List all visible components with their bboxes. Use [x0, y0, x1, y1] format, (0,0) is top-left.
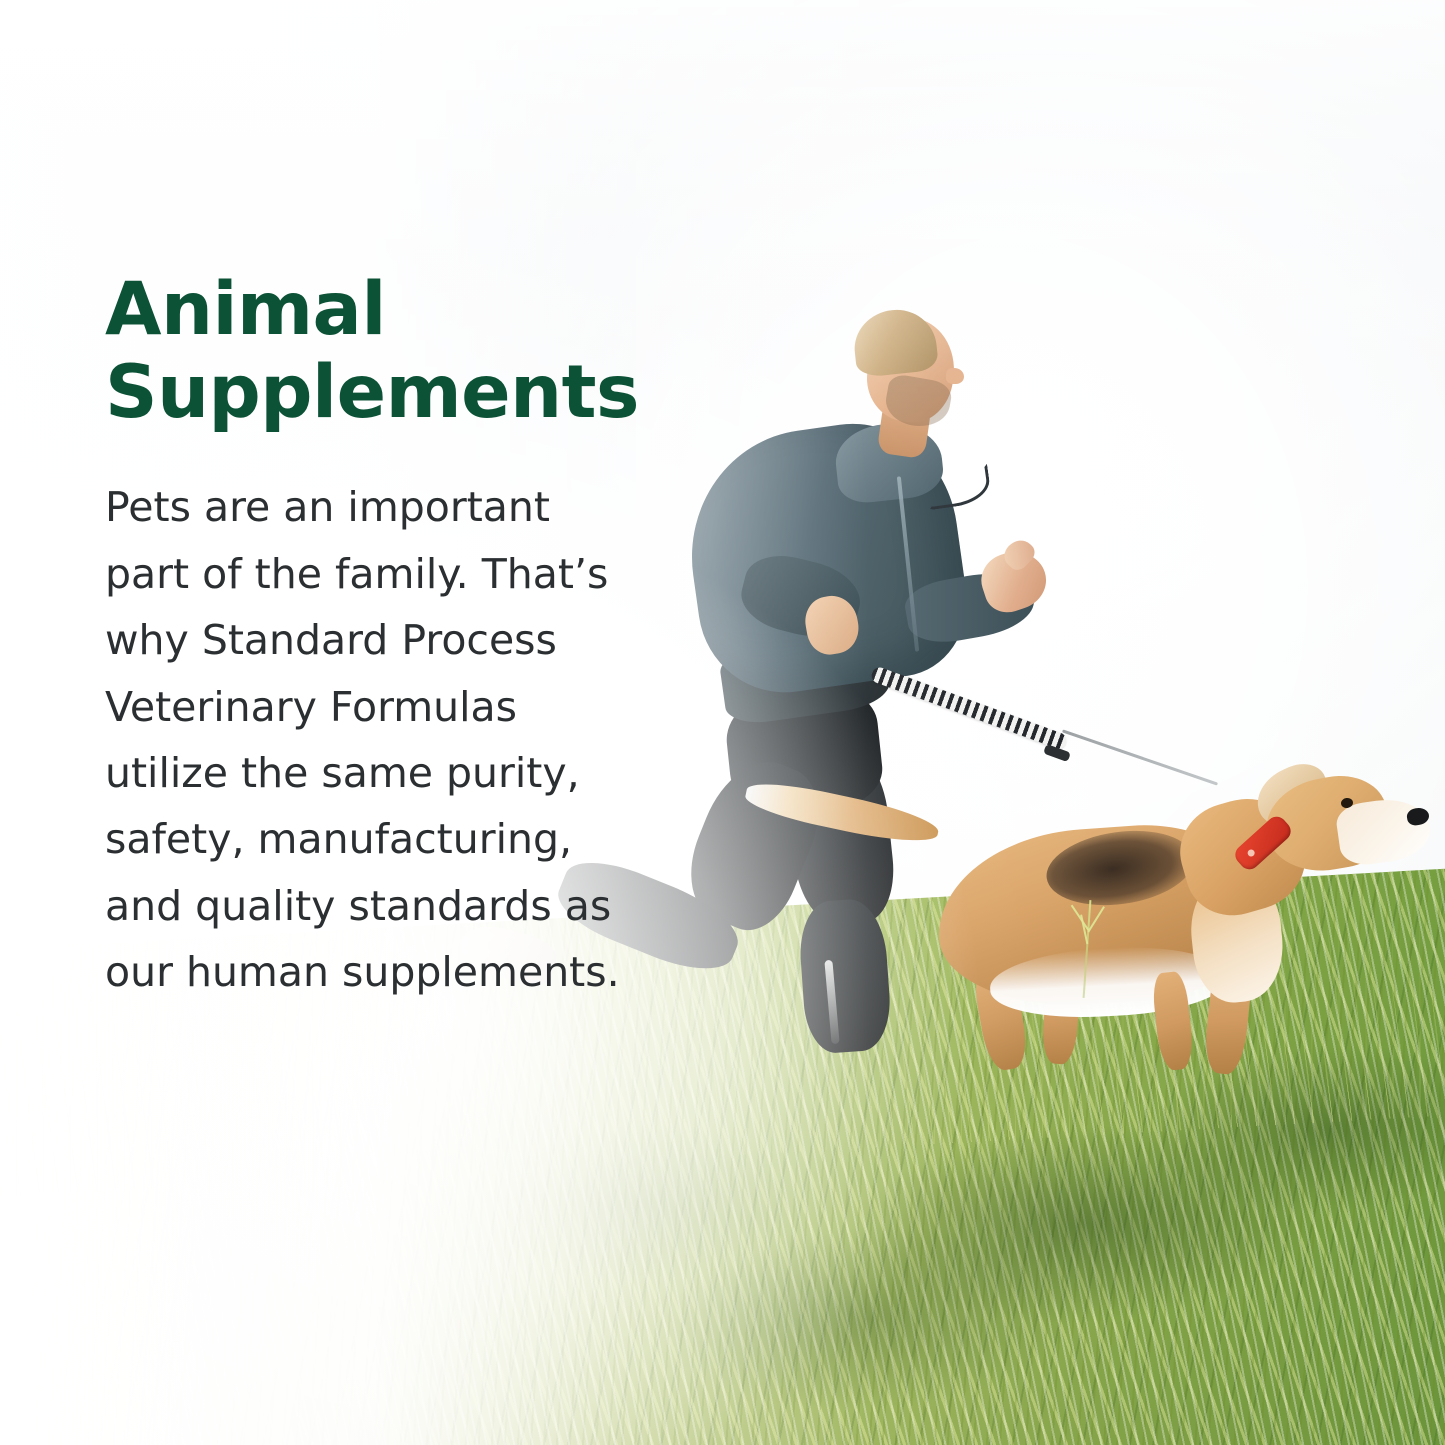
body-paragraph: Pets are an important part of the family…	[105, 474, 645, 1005]
page-title: Animal Supplements	[105, 268, 695, 434]
page-title-line-1: Animal	[105, 268, 695, 351]
text-column: Animal Supplements Pets are an important…	[105, 268, 695, 1006]
dog-tail	[743, 776, 942, 850]
animal-supplements-poster: Animal Supplements Pets are an important…	[0, 0, 1445, 1445]
page-title-line-2: Supplements	[105, 351, 695, 434]
